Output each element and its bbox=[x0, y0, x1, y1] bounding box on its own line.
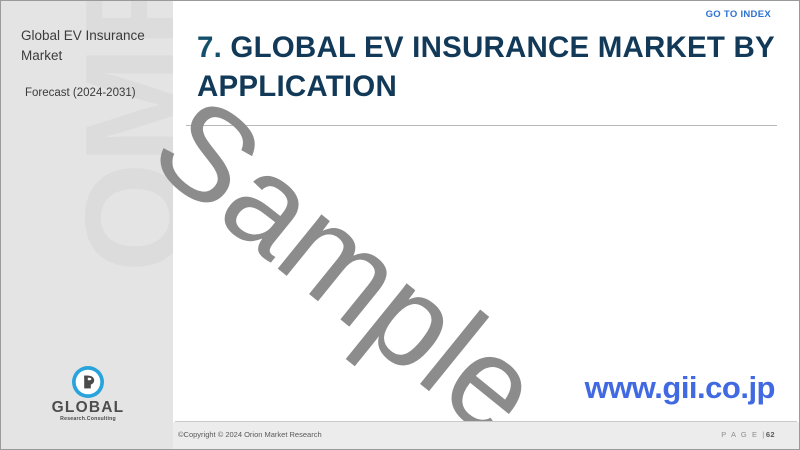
goto-index-link[interactable]: GO TO INDEX bbox=[706, 9, 771, 20]
page-title-number: 7. bbox=[197, 31, 222, 64]
page-title-text: GLOBAL EV INSURANCE MARKET BY APPLICATIO… bbox=[197, 31, 774, 103]
gii-url-text: www.gii.co.jp bbox=[585, 372, 775, 403]
global-research-logo-icon bbox=[71, 365, 105, 399]
logo-tagline: Research.Consulting bbox=[42, 416, 134, 423]
sample-watermark: Sample bbox=[132, 75, 588, 450]
footer-page-label: P A G E | bbox=[721, 430, 766, 439]
main-content: GO TO INDEX 7. GLOBAL EV INSURANCE MARKE… bbox=[173, 1, 799, 449]
sidebar: OMR Global EV Insurance Market Forecast … bbox=[1, 1, 173, 450]
footer-copyright: ©Copyright © 2024 Orion Market Research bbox=[178, 430, 322, 439]
page-title: 7. GLOBAL EV INSURANCE MARKET BY APPLICA… bbox=[197, 29, 787, 107]
company-logo: GLOBAL Research.Consulting bbox=[42, 365, 134, 423]
sidebar-report-title: Global EV Insurance Market bbox=[21, 26, 159, 65]
slide-canvas: OMR Global EV Insurance Market Forecast … bbox=[0, 0, 800, 450]
footer-page-number: 62 bbox=[766, 430, 775, 439]
logo-wordmark: GLOBAL bbox=[42, 400, 134, 416]
sidebar-forecast-label: Forecast (2024-2031) bbox=[25, 87, 165, 99]
footer-page-indicator: P A G E |62 bbox=[721, 430, 775, 439]
footer: ©Copyright © 2024 Orion Market Research … bbox=[173, 422, 799, 449]
title-divider bbox=[186, 125, 777, 126]
